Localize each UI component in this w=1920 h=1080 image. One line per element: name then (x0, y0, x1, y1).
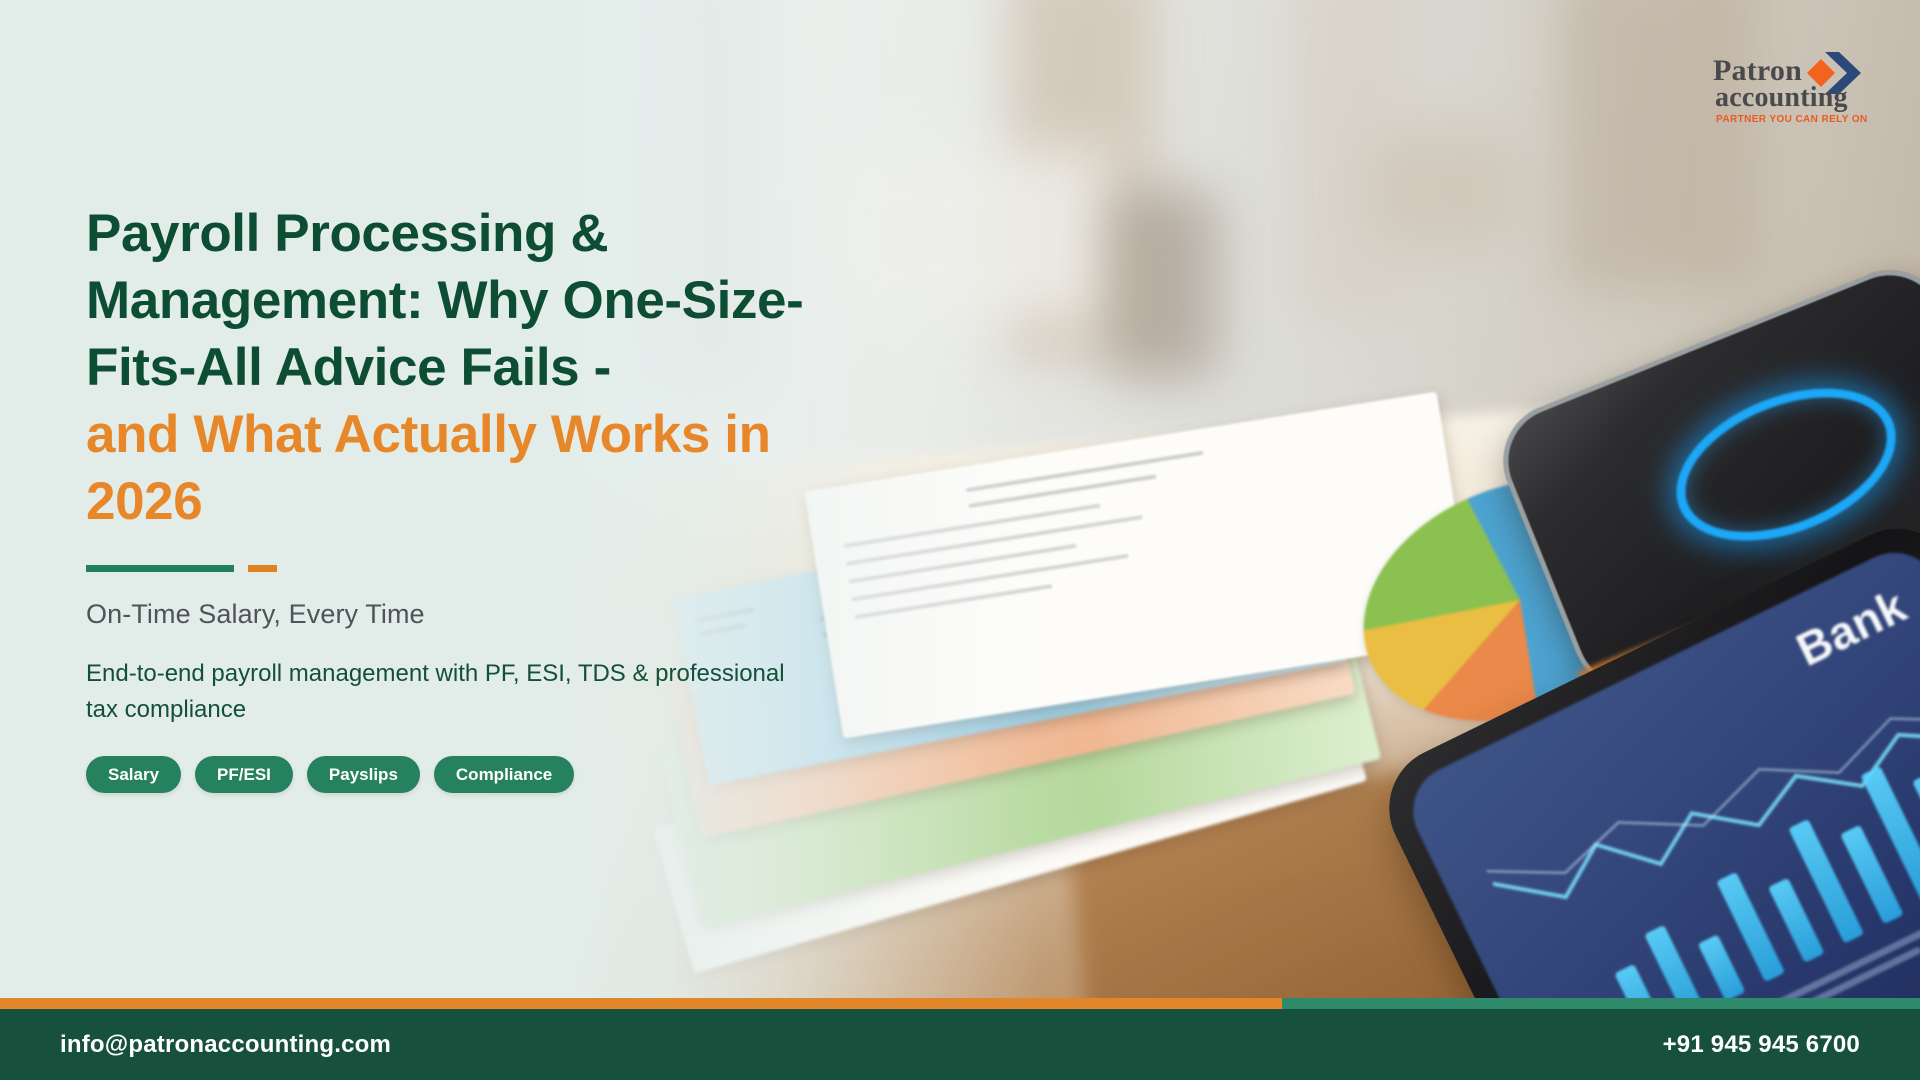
phone-bar (1698, 934, 1746, 1001)
logo-word-accounting: accounting (1715, 84, 1848, 112)
blurred-window-panel (1560, 0, 1760, 290)
accent-bar-green (1282, 998, 1920, 1009)
divider-green-segment (86, 565, 234, 572)
hero-tagline: On-Time Salary, Every Time (86, 599, 986, 630)
pill-salary[interactable]: Salary (86, 756, 181, 793)
feature-pill-list: Salary PF/ESI Payslips Compliance (86, 756, 986, 793)
blurred-office-object (1370, 130, 1520, 250)
pill-payslips[interactable]: Payslips (307, 756, 420, 793)
accent-bar-orange (0, 998, 1282, 1009)
patron-accounting-logo[interactable]: Patron accounting PARTNER YOU CAN RELY O… (1713, 48, 1863, 130)
footer-bar: info@patronaccounting.com +91 945 945 67… (0, 1009, 1920, 1080)
footer-phone[interactable]: +91 945 945 6700 (1663, 1031, 1860, 1059)
footer-email[interactable]: info@patronaccounting.com (60, 1031, 391, 1059)
pill-pf-esi[interactable]: PF/ESI (195, 756, 293, 793)
phone-bar (1768, 878, 1825, 963)
hero-content: Payroll Processing & Management: Why One… (86, 200, 986, 793)
headline-accent-line: and What Actually Works in 2026 (86, 401, 886, 535)
headline-line-1: Payroll Processing & (86, 204, 608, 263)
logo-tagline: PARTNER YOU CAN RELY ON (1716, 114, 1868, 125)
footer-accent-bar (0, 998, 1920, 1009)
divider-orange-segment (248, 565, 277, 572)
hero-banner: Bank (0, 0, 1920, 1080)
page-title: Payroll Processing & Management: Why One… (86, 200, 886, 535)
hero-description: End-to-end payroll management with PF, E… (86, 656, 786, 728)
headline-line-2: Management: Why (86, 271, 548, 330)
accent-divider (86, 565, 986, 572)
pill-compliance[interactable]: Compliance (434, 756, 574, 793)
